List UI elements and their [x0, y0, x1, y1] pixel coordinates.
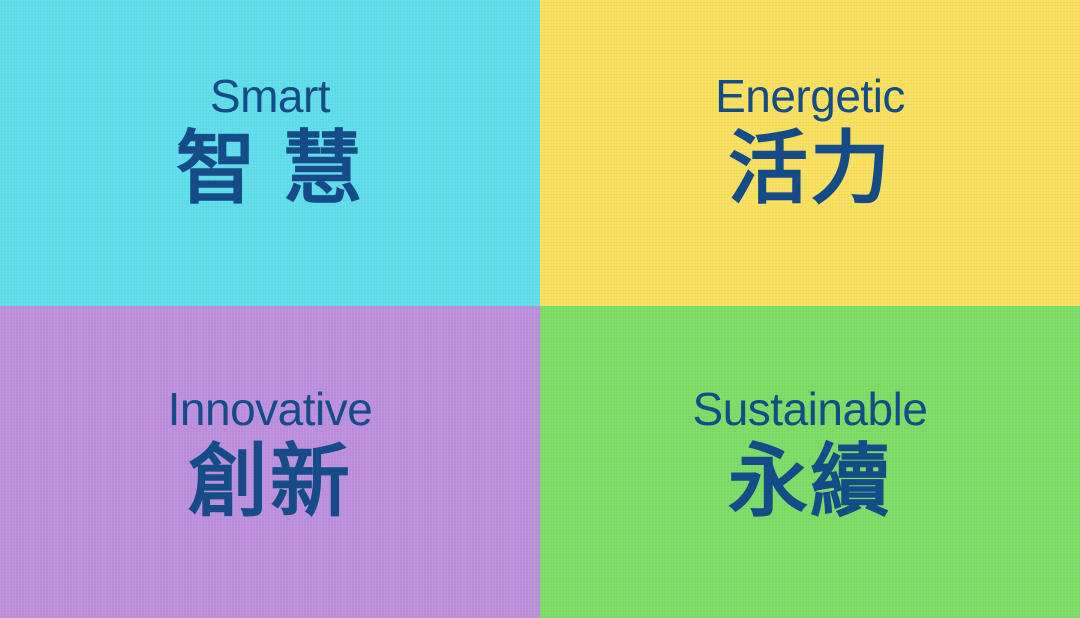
panel-energetic-content: Energetic 活力	[715, 73, 905, 209]
panel-energetic: Energetic 活力	[540, 0, 1080, 306]
panel-innovative-english-label: Innovative	[168, 386, 373, 432]
brand-values-grid: Smart 智 慧 Energetic 活力 Innovative 創新 Sus…	[0, 0, 1080, 618]
panel-sustainable-chinese-label: 永續	[693, 442, 928, 522]
panel-energetic-english-label: Energetic	[715, 73, 905, 119]
panel-energetic-chinese-label: 活力	[715, 129, 905, 209]
panel-innovative-content: Innovative 創新	[168, 386, 373, 522]
panel-sustainable: Sustainable 永續	[540, 306, 1080, 618]
panel-smart: Smart 智 慧	[0, 0, 540, 306]
panel-sustainable-content: Sustainable 永續	[693, 386, 928, 522]
panel-innovative-chinese-label: 創新	[168, 442, 373, 522]
panel-smart-english-label: Smart	[176, 73, 364, 119]
panel-innovative: Innovative 創新	[0, 306, 540, 618]
panel-smart-chinese-label: 智 慧	[176, 129, 364, 209]
panel-sustainable-english-label: Sustainable	[693, 386, 928, 432]
panel-smart-content: Smart 智 慧	[176, 73, 364, 209]
